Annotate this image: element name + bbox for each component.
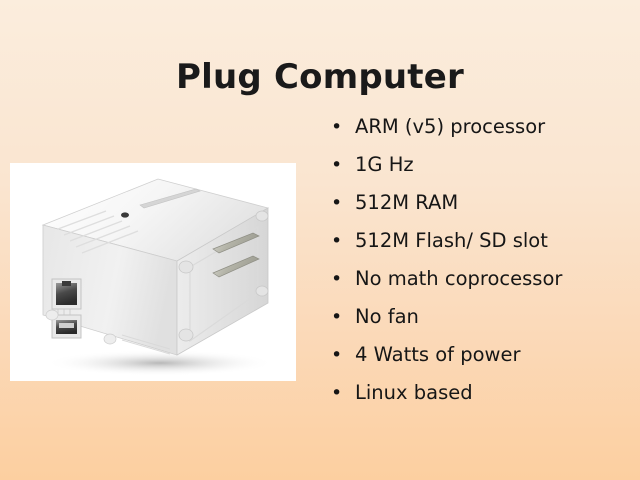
list-item: • No fan	[328, 298, 634, 336]
ethernet-port	[52, 279, 81, 309]
list-item: • No math coprocessor	[328, 260, 634, 298]
list-item-label: ARM (v5) processor	[355, 115, 545, 138]
bullet-dot-icon: •	[331, 336, 342, 374]
bullet-dot-icon: •	[331, 260, 342, 298]
plug-computer-photo	[10, 163, 296, 381]
device-shadow	[45, 350, 275, 376]
list-item-label: No math coprocessor	[355, 267, 562, 290]
bullet-dot-icon: •	[331, 184, 342, 222]
list-item-label: 512M Flash/ SD slot	[355, 229, 548, 252]
bullet-dot-icon: •	[331, 108, 342, 146]
plug-computer-illustration	[10, 163, 296, 381]
list-item-label: 512M RAM	[355, 191, 458, 214]
list-item: • 512M RAM	[328, 184, 634, 222]
slide-canvas: Plug Computer • ARM (v5) processor • 1G …	[0, 0, 640, 480]
list-item-label: No fan	[355, 305, 419, 328]
list-item-label: Linux based	[355, 381, 473, 404]
bullet-dot-icon: •	[331, 374, 342, 412]
led-indicator	[121, 212, 129, 217]
page-title: Plug Computer	[0, 57, 640, 97]
bullet-dot-icon: •	[331, 298, 342, 336]
feature-bullet-list: • ARM (v5) processor • 1G Hz • 512M RAM …	[328, 108, 634, 412]
list-item: • 512M Flash/ SD slot	[328, 222, 634, 260]
list-item: • 4 Watts of power	[328, 336, 634, 374]
list-item: • ARM (v5) processor	[328, 108, 634, 146]
list-item: • Linux based	[328, 374, 634, 412]
bullet-dot-icon: •	[331, 222, 342, 260]
list-item: • 1G Hz	[328, 146, 634, 184]
list-item-label: 1G Hz	[355, 153, 414, 176]
bullet-dot-icon: •	[331, 146, 342, 184]
list-item-label: 4 Watts of power	[355, 343, 521, 366]
